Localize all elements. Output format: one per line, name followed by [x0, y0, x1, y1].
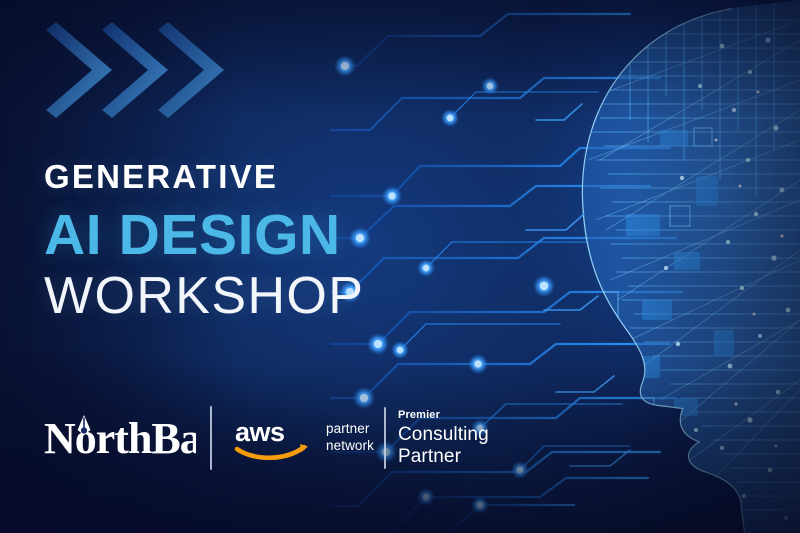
aws-network-text: network — [326, 438, 374, 455]
headline-block: GENERATIVE AI DESIGN WORKSHOP — [44, 160, 464, 322]
aws-partner-text: partner — [326, 421, 374, 438]
partner-logo-bar: NorthBay aws partner network — [44, 398, 489, 478]
poster-canvas: GENERATIVE AI DESIGN WORKSHOP NorthBay a… — [0, 0, 800, 533]
aws-wordmark-icon: aws — [234, 416, 312, 460]
logo-divider-2 — [384, 407, 386, 469]
headline-line-workshop: WORKSHOP — [44, 270, 464, 322]
tier-premier-label: Premier — [398, 409, 489, 421]
logo-divider-1 — [210, 406, 212, 470]
partner-tier-block: Premier Consulting Partner — [398, 409, 489, 467]
northbay-logo: NorthBay — [44, 411, 196, 465]
headline-line-ai-design: AI DESIGN — [44, 207, 464, 264]
triple-chevron-icon — [40, 18, 230, 128]
aws-partner-network-logo: aws partner network — [234, 416, 374, 460]
svg-text:aws: aws — [235, 417, 285, 447]
headline-line-generative: GENERATIVE — [44, 160, 464, 193]
tier-partner-label: Partner — [398, 446, 489, 468]
svg-text:NorthBay: NorthBay — [44, 414, 196, 463]
tier-consulting-label: Consulting — [398, 424, 489, 446]
aws-partner-network-text: partner network — [326, 421, 374, 454]
